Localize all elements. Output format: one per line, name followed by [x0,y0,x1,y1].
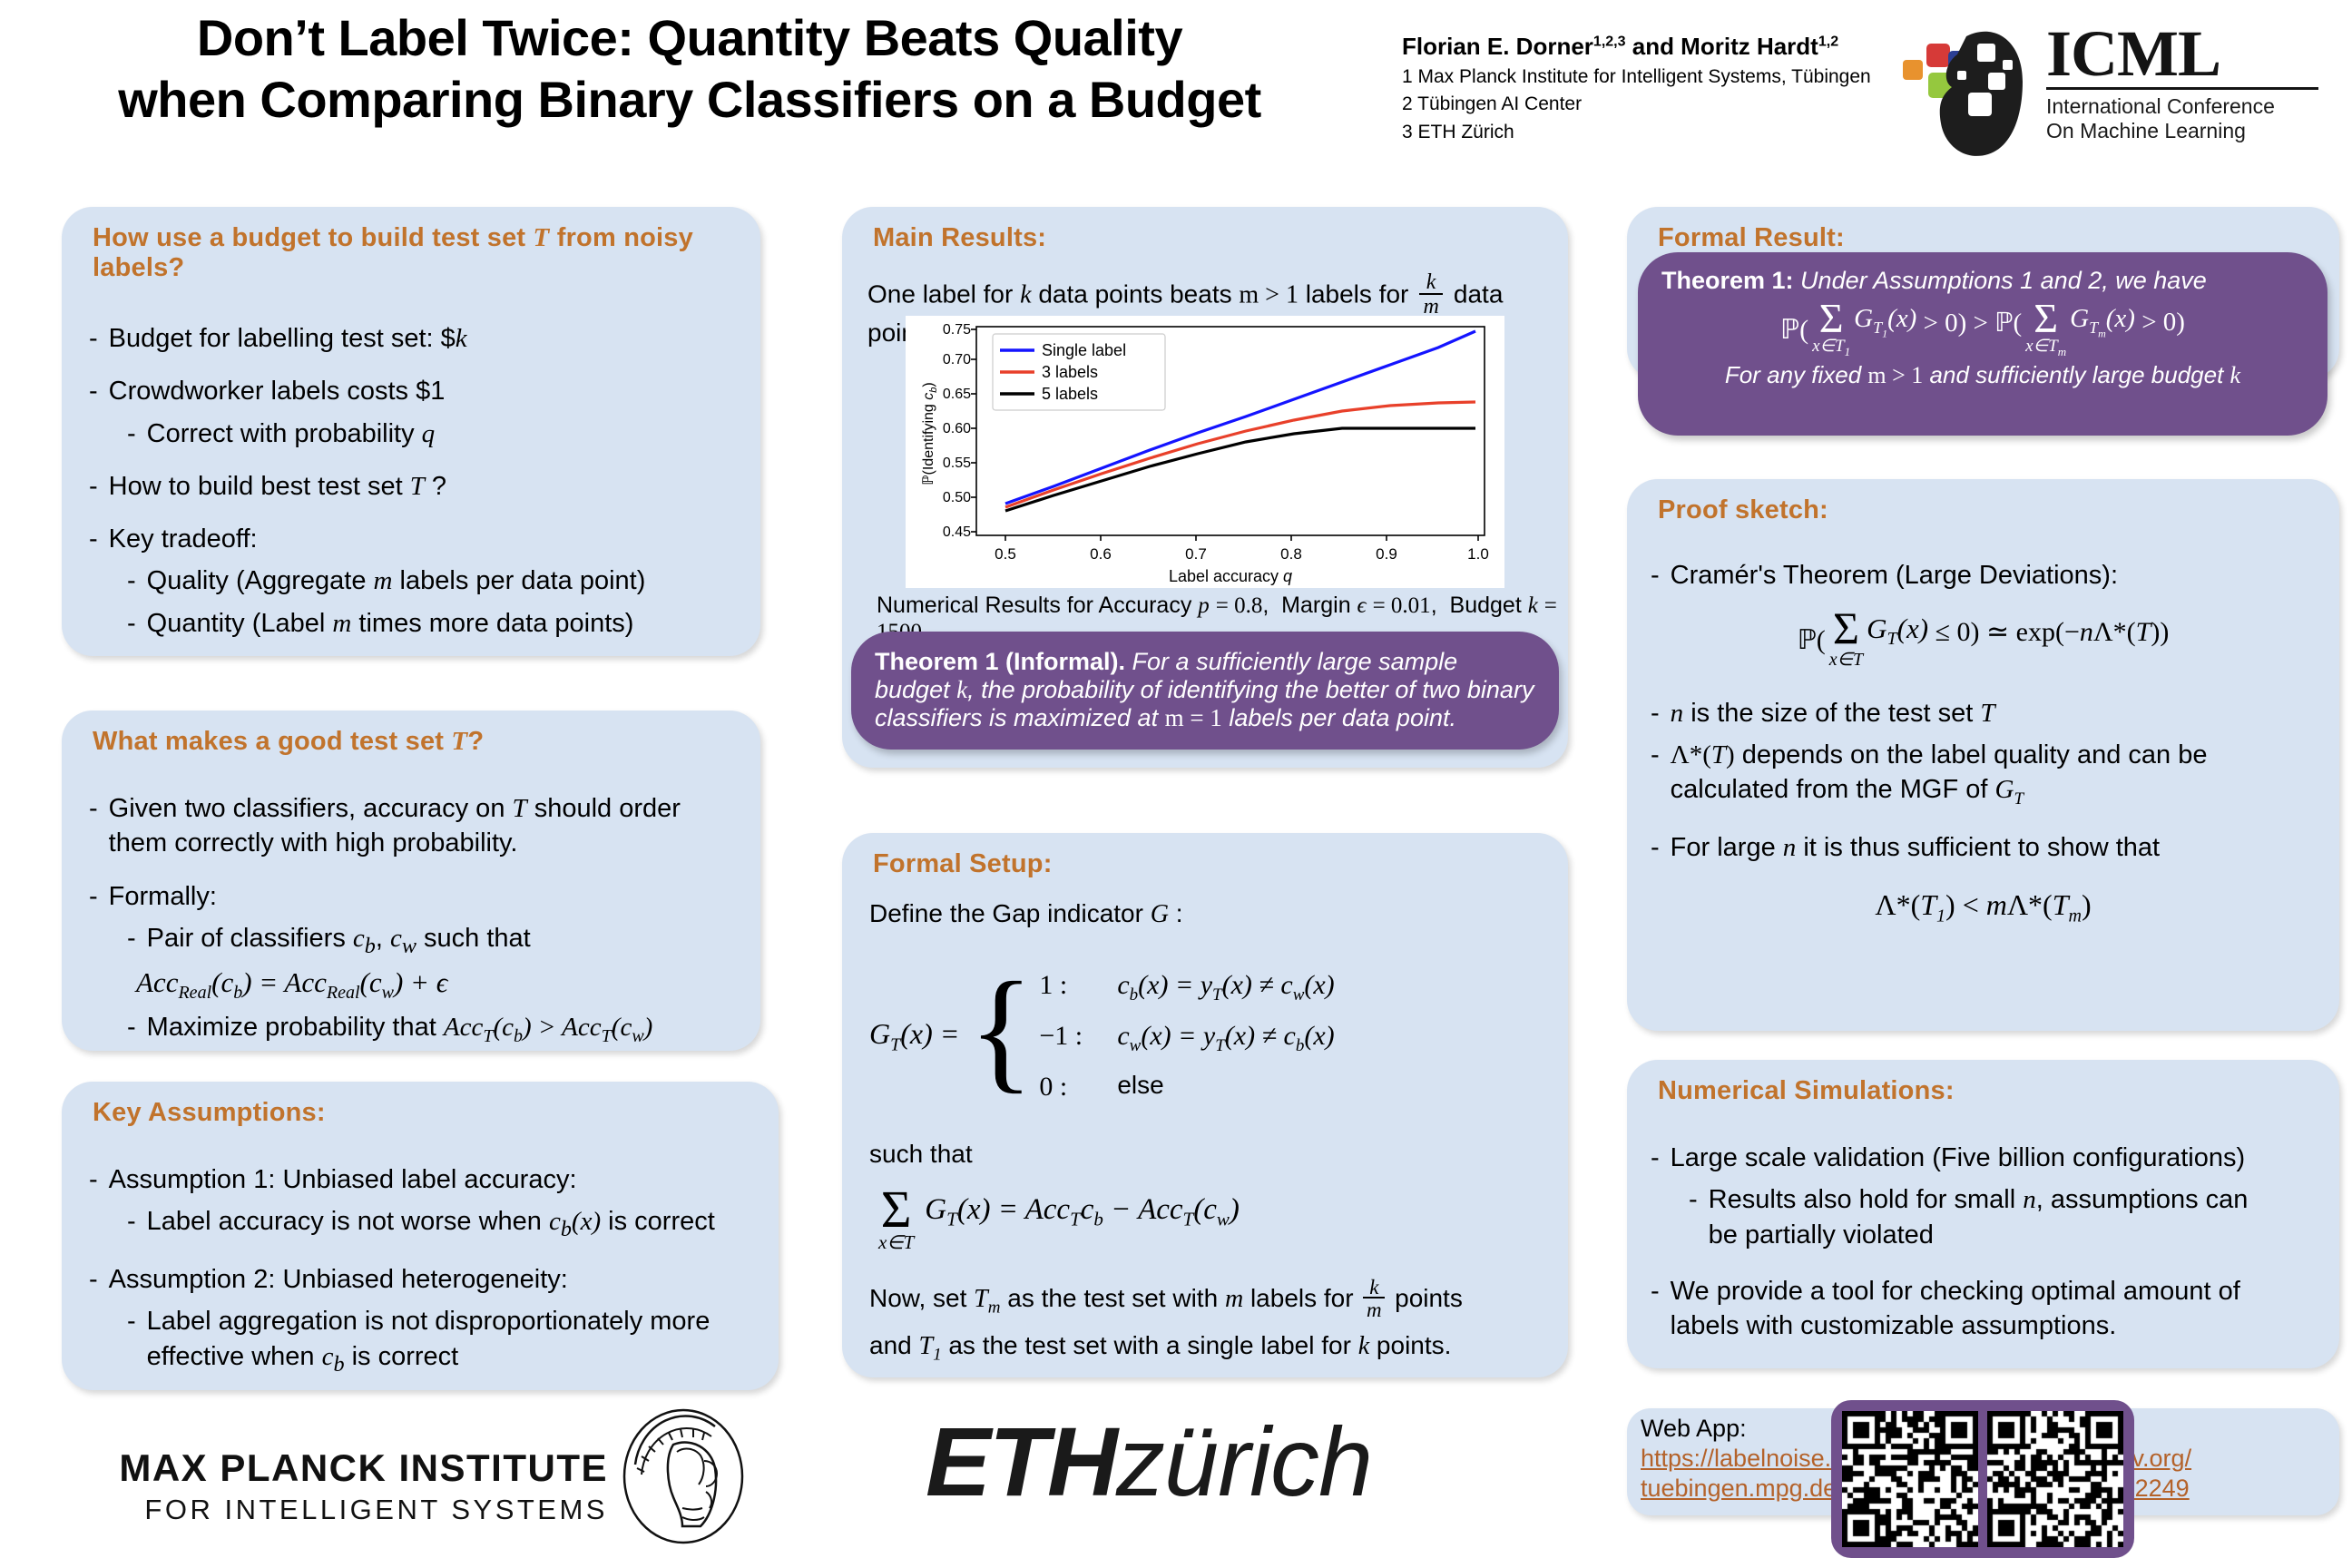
author-1-affil-sup: 1,2,3 [1593,34,1626,49]
y-tick-0.65: 0.65 [943,387,971,402]
list-item: - Given two classifiers, accuracy on T s… [89,791,733,861]
panel-good-test-set: What makes a good test set T? - Given tw… [62,710,760,1051]
panel-main-results: Main Results: One label for k data point… [842,207,1568,768]
list-item: - Budget for labelling test set: $k [89,321,733,356]
icml-subtitle-2: On Machine Learning [2046,119,2327,143]
list-item: - n is the size of the test set T [1651,696,2312,730]
qr-code-webapp[interactable] [1842,1411,1978,1547]
equation-acc-real: AccReal(cb) = AccReal(cw) + ϵ [136,965,733,1005]
icml-word: ICML [2046,24,2327,83]
panel-numerical-simulations: Numerical Simulations: - Large scale val… [1627,1060,2339,1368]
legend-label-single: Single label [1042,341,1126,359]
theorem-informal-callout: Theorem 1 (Informal). For a sufficiently… [851,632,1559,750]
list-item: - Key tradeoff: [89,522,733,556]
panel-key-assumptions: Key Assumptions: - Assumption 1: Unbiase… [62,1082,779,1390]
eth-wordmark-light: zürich [1116,1406,1372,1516]
list-item: - Results also hold for small n, assumpt… [1689,1182,2312,1252]
affiliation-2: 2 Tübingen AI Center [1402,92,1883,117]
list-item: - Λ*(T) depends on the label quality and… [1651,738,2312,810]
cramer-equation: ℙ( Σ x∈T GT(x) ≤ 0) ≃ exp(−nΛ*(T)) [1627,609,2339,671]
icml-wordmark: ICML International Conference On Machine… [2046,24,2327,143]
icml-subtitle-1: International Conference [2046,94,2327,119]
eth-wordmark-bold: ETH [926,1406,1116,1516]
qr-code-group [1831,1400,2134,1558]
results-chart: 0.45 0.50 0.55 0.60 0.65 0.70 0.75 [906,316,1504,588]
gap-case-3: 0 : else [1039,1062,1334,1112]
such-that-label: such that [869,1140,973,1169]
theorem-1-footer: For any fixed m > 1 and sufficiently lar… [1661,361,2304,389]
max-planck-logo: MAX PLANCK INSTITUTE FOR INTELLIGENT SYS… [64,1408,771,1544]
list-item: - Assumption 1: Unbiased label accuracy: [89,1162,751,1197]
list-item: - Quality (Aggregate m labels per data p… [127,563,733,598]
theorem-1-intro: Under Assumptions 1 and 2, we have [1794,267,2207,294]
y-tick-0.45: 0.45 [943,524,971,540]
list-item: - Crowdworker labels costs $1 [89,374,733,408]
gap-indicator-equation: GT(x) = { 1 : cb(x) = yT(x) ≠ cw(x) −1 :… [869,960,1335,1112]
test-set-definitions: Now, set Tm as the test set with m label… [869,1276,1541,1370]
mpi-line-1: MAX PLANCK INSTITUTE [64,1446,608,1490]
y-tick-0.70: 0.70 [943,352,971,367]
poster-header: Don’t Label Twice: Quantity Beats Qualit… [0,0,2352,181]
mpi-line-2: FOR INTELLIGENT SYSTEMS [64,1494,608,1526]
author-1: Florian E. Dorner [1402,33,1593,60]
y-tick-0.75: 0.75 [943,322,971,338]
x-tick-0.9: 0.9 [1376,545,1397,563]
panel-budget-title: How use a budget to build test set T fro… [62,207,760,283]
legend-label-3: 3 labels [1042,363,1098,381]
theorem-1-equation: ℙ( Σ x∈T1 GT1(x) > 0) > ℙ( Σ x∈Tm GTm(x)… [1661,300,2304,359]
x-axis-label: Label accuracy q [1169,567,1292,585]
y-tick-0.50: 0.50 [943,490,971,505]
panel-formal-result-title: Formal Result: [1627,207,2339,253]
legend-label-5: 5 labels [1042,385,1098,403]
sum-equation: Σ x∈T GT(x) = AccTcb − AccT(cw) [878,1187,1240,1254]
x-tick-0.8: 0.8 [1280,545,1302,563]
panel-proof-sketch: Proof sketch: - Cramér's Theorem (Large … [1627,479,2339,1031]
icml-head-icon [1901,16,2037,162]
qr-code-paper[interactable] [1987,1411,2123,1547]
x-tick-0.5: 0.5 [995,545,1016,563]
list-item: - Label accuracy is not worse when cb(x)… [127,1204,751,1244]
x-tick-0.7: 0.7 [1185,545,1207,563]
author-block: Florian E. Dorner1,2,3 and Moritz Hardt1… [1402,32,1883,145]
affiliation-3: 3 ETH Zürich [1402,120,1883,145]
list-item: - Pair of classifiers cb, cw such that [127,921,733,961]
panel-numerical-simulations-title: Numerical Simulations: [1627,1060,2339,1106]
minerva-head-icon [617,1408,750,1544]
author-names: Florian E. Dorner1,2,3 and Moritz Hardt1… [1402,32,1883,62]
list-item: - Quantity (Label m times more data poin… [127,606,733,641]
list-item: - Formally: [89,879,733,914]
theorem-1-callout: Theorem 1: Under Assumptions 1 and 2, we… [1638,252,2327,436]
panel-good-test-set-title: What makes a good test set T? [62,710,760,757]
eth-zurich-logo: ETHzürich [926,1405,1470,1541]
x-tick-0.6: 0.6 [1090,545,1112,563]
title-line-1: Don’t Label Twice: Quantity Beats Qualit… [36,7,1343,69]
y-tick-0.55: 0.55 [943,456,971,471]
icml-logo: ICML International Conference On Machine… [1901,16,2327,162]
affiliation-1: 1 Max Planck Institute for Intelligent S… [1402,64,1883,90]
list-item: - How to build best test set T ? [89,469,733,504]
panel-proof-sketch-title: Proof sketch: [1627,479,2339,525]
gap-case-1: 1 : cb(x) = yT(x) ≠ cw(x) [1039,960,1334,1011]
list-item: - Large scale validation (Five billion c… [1651,1141,2312,1175]
list-item: - Assumption 2: Unbiased heterogeneity: [89,1262,751,1297]
panel-formal-setup: Formal Setup: Define the Gap indicator G… [842,833,1568,1377]
gap-case-2: −1 : cw(x) = yT(x) ≠ cb(x) [1039,1011,1334,1062]
x-tick-1.0: 1.0 [1467,545,1489,563]
list-item: - Correct with probability q [127,416,733,451]
page-title: Don’t Label Twice: Quantity Beats Qualit… [36,7,1343,132]
y-tick-0.60: 0.60 [943,421,971,436]
list-item: - We provide a tool for checking optimal… [1651,1274,2312,1344]
theorem-1-heading: Theorem 1: Under Assumptions 1 and 2, we… [1661,267,2304,295]
panel-budget: How use a budget to build test set T fro… [62,207,760,656]
author-2-affil-sup: 1,2 [1818,34,1838,49]
list-item: - Maximize probability that AccT(cb) > A… [127,1010,733,1048]
list-item: - Cramér's Theorem (Large Deviations): [1651,558,2312,593]
list-item: - Label aggregation is not disproportion… [127,1304,751,1378]
gap-indicator-intro: Define the Gap indicator G : [842,879,1568,929]
title-line-2: when Comparing Binary Classifiers on a B… [36,69,1343,131]
author-conjunction: and Moritz Hardt [1626,33,1818,60]
theorem-1-label: Theorem 1: [1661,267,1794,294]
theorem-informal-label: Theorem 1 (Informal). [875,648,1125,675]
poster-root: Don’t Label Twice: Quantity Beats Qualit… [0,0,2352,1568]
panel-key-assumptions-title: Key Assumptions: [62,1082,779,1128]
lambda-inequality: Λ*(T1) < mΛ*(Tm) [1627,888,2339,926]
list-item: - For large n it is thus sufficient to s… [1651,830,2312,865]
panel-formal-setup-title: Formal Setup: [842,833,1568,879]
panel-main-results-title: Main Results: [842,207,1568,253]
